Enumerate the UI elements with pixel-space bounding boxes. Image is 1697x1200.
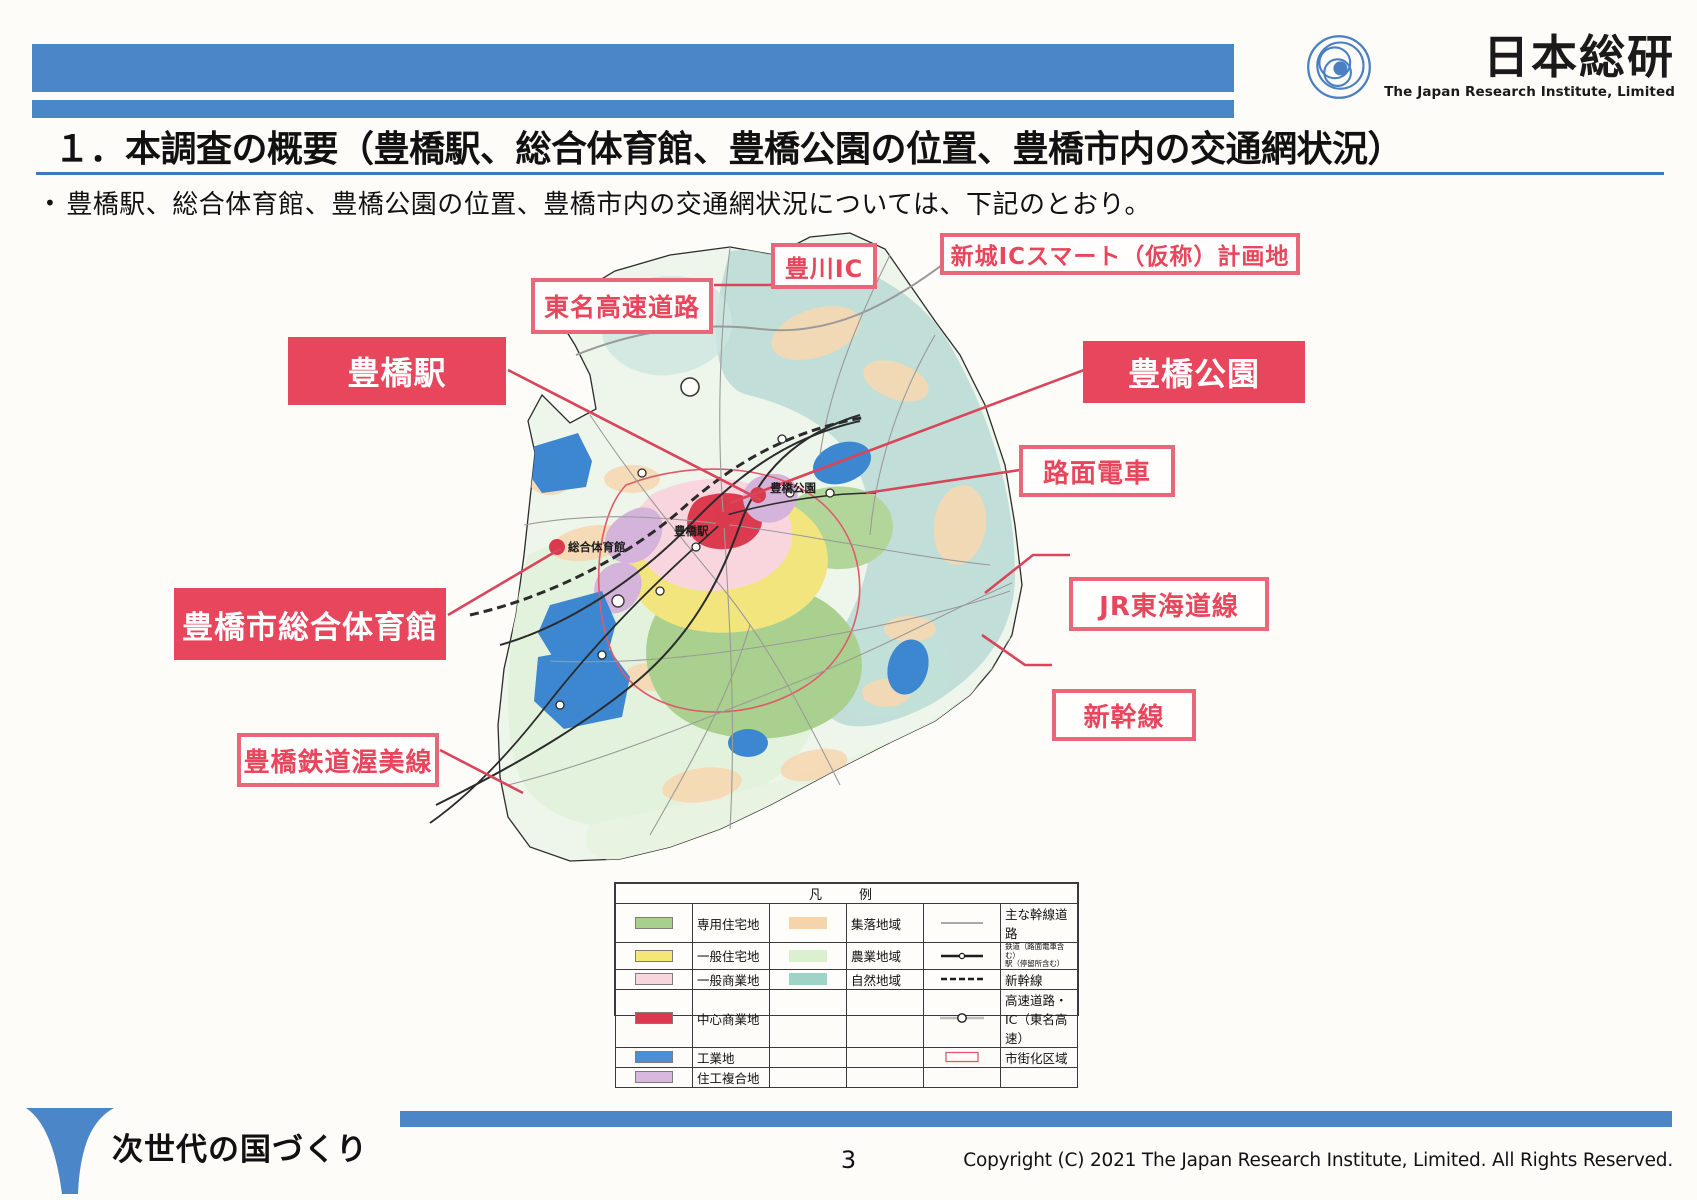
legend-label-cell: 市街化区域: [1001, 1047, 1078, 1067]
legend-symbol-ic: [937, 1012, 987, 1024]
legend-row: 工業地市街化区域: [616, 1047, 1078, 1067]
callout-atsumi-line[interactable]: 豊橋鉄道渥美線: [237, 733, 439, 787]
map-label-park: 豊橋公園: [770, 481, 816, 495]
legend-label-line: 駅（停留所含む）: [1005, 960, 1073, 969]
legend-symbol-shinkansen: [937, 973, 987, 985]
legend-swatch-cell: [770, 904, 847, 943]
legend-color-swatch: [635, 973, 673, 985]
callout-toyokawa-label: 豊川IC: [785, 249, 864, 284]
legend-color-swatch: [635, 1012, 673, 1024]
legend-color-swatch: [635, 1071, 673, 1083]
callout-toyokawa-ic[interactable]: 豊川IC: [771, 243, 877, 289]
legend-label-cell: 自然地域: [847, 969, 924, 989]
intro-bullet: •豊橋駅、総合体育館、豊橋公園の位置、豊橋市内の交通網状況については、下記のとお…: [44, 184, 1151, 221]
map-figure: 豊橋公園 豊橋駅 総合体育館: [30, 225, 1667, 905]
map-marker-toyohashi-station: [715, 512, 731, 528]
legend-color-swatch: [789, 973, 827, 985]
legend-swatch-cell: [616, 989, 693, 1047]
callout-shinshiro-ic[interactable]: 新城ICスマート（仮称）計画地: [940, 233, 1300, 275]
callout-shinkansen[interactable]: 新幹線: [1052, 689, 1196, 741]
legend-symbol-wrap: [937, 1012, 987, 1024]
logo-text-jp: 日本総研: [1483, 34, 1675, 80]
legend-label-cell: 一般住宅地: [693, 943, 770, 970]
legend-label-cell: [847, 989, 924, 1047]
callout-atsumi-label: 豊橋鉄道渥美線: [243, 742, 432, 779]
callout-station-label: 豊橋駅: [347, 348, 446, 394]
legend-label-cell: 一般商業地: [693, 969, 770, 989]
legend-symbol-wrap: [937, 950, 987, 962]
toyohashi-city-map: 豊橋公園 豊橋駅 総合体育館: [30, 225, 1667, 905]
legend-symbol-cell: [924, 989, 1001, 1047]
legend-symbol-cell: [924, 969, 1001, 989]
legend-color-swatch: [789, 917, 827, 929]
legend-label-cell: 工業地: [693, 1047, 770, 1067]
legend-color-swatch: [635, 917, 673, 929]
map-toyokawa-ic-marker: [681, 378, 699, 396]
bullet-marker: •: [44, 191, 56, 215]
map-legend: 凡 例専用住宅地集落地域主な幹線道路一般住宅地農業地域鉄道（路面電車含む）駅（停…: [614, 882, 1079, 1016]
legend-label-cell: 専用住宅地: [693, 904, 770, 943]
page-title: １．本調査の概要（豊橋駅、総合体育館、豊橋公園の位置、豊橋市内の交通網状況）: [54, 120, 1614, 172]
legend-symbol-wrap: [937, 1051, 987, 1063]
legend-color-swatch: [635, 1051, 673, 1063]
legend-symbol-cell: [924, 1047, 1001, 1067]
legend-swatch-cell: [616, 904, 693, 943]
legend-swatch-cell: [616, 969, 693, 989]
callout-jr-label: JR東海道線: [1099, 586, 1239, 623]
legend-symbol-urban: [937, 1051, 987, 1063]
company-logo: 日本総研 The Japan Research Institute, Limit…: [1304, 32, 1675, 102]
legend-swatch-cell: [616, 1047, 693, 1067]
callout-tram[interactable]: 路面電車: [1019, 445, 1175, 497]
footer-bar: [400, 1111, 1672, 1127]
legend-label-cell: [1001, 1067, 1078, 1087]
legend-symbol-rail: [937, 950, 987, 962]
callout-park-label: 豊橋公園: [1128, 349, 1260, 395]
legend-swatch-cell: [770, 989, 847, 1047]
legend-color-swatch: [635, 950, 673, 962]
legend-table: 凡 例専用住宅地集落地域主な幹線道路一般住宅地農業地域鉄道（路面電車含む）駅（停…: [615, 883, 1078, 1088]
legend-title: 凡 例: [616, 884, 1078, 904]
legend-label-cell: 鉄道（路面電車含む）駅（停留所含む）: [1001, 943, 1078, 970]
callout-toumei-label: 東名高速道路: [544, 288, 700, 324]
legend-label-line: 鉄道（路面電車含む）: [1005, 943, 1073, 960]
legend-row: 一般商業地自然地域新幹線: [616, 969, 1078, 989]
callout-jr-tokaido[interactable]: JR東海道線: [1069, 577, 1269, 631]
map-label-station: 豊橋駅: [674, 524, 709, 538]
legend-row: 専用住宅地集落地域主な幹線道路: [616, 904, 1078, 943]
callout-gym-label: 豊橋市総合体育館: [182, 602, 438, 647]
legend-body: 凡 例専用住宅地集落地域主な幹線道路一般住宅地農業地域鉄道（路面電車含む）駅（停…: [616, 884, 1078, 1088]
callout-shinshiro-label: 新城ICスマート（仮称）計画地: [951, 237, 1290, 271]
legend-label-cell: 住工複合地: [693, 1067, 770, 1087]
logo-text-en: The Japan Research Institute, Limited: [1384, 84, 1675, 100]
callout-shinkansen-label: 新幹線: [1083, 697, 1164, 734]
callout-toyohashi-park[interactable]: 豊橋公園: [1083, 341, 1305, 403]
legend-symbol-wrap: [937, 973, 987, 985]
legend-row: 住工複合地: [616, 1067, 1078, 1087]
legend-swatch-cell: [770, 1067, 847, 1087]
slide: 日本総研 The Japan Research Institute, Limit…: [0, 0, 1697, 1200]
map-ic-marker-2: [612, 595, 624, 607]
legend-swatch-cell: [616, 1067, 693, 1087]
header-bar-secondary: [32, 100, 1234, 118]
callout-toyohashi-station[interactable]: 豊橋駅: [288, 337, 506, 405]
legend-swatch-cell: [770, 1047, 847, 1067]
copyright-text: Copyright (C) 2021 The Japan Research In…: [963, 1150, 1673, 1171]
legend-label-cell: 農業地域: [847, 943, 924, 970]
legend-swatch-cell: [770, 969, 847, 989]
legend-symbol-cell: [924, 943, 1001, 970]
legend-label-cell: 新幹線: [1001, 969, 1078, 989]
legend-label-cell: 高速道路・IC（東名高速）: [1001, 989, 1078, 1047]
legend-symbol-cell: [924, 904, 1001, 943]
legend-swatch-cell: [770, 943, 847, 970]
callout-gym[interactable]: 豊橋市総合体育館: [174, 588, 446, 660]
legend-symbol-wrap: [937, 917, 987, 929]
legend-symbol-cell: [924, 1067, 1001, 1087]
legend-header-row: 凡 例: [616, 884, 1078, 904]
title-divider: [36, 172, 1664, 175]
header-bar-primary: [32, 44, 1234, 92]
legend-swatch-cell: [616, 943, 693, 970]
legend-label-cell: [847, 1047, 924, 1067]
legend-label-cell: 主な幹線道路: [1001, 904, 1078, 943]
callout-tram-label: 路面電車: [1043, 453, 1151, 490]
legend-label-cell: 集落地域: [847, 904, 924, 943]
legend-row: 中心商業地高速道路・IC（東名高速）: [616, 989, 1078, 1047]
map-label-gym: 総合体育館: [568, 540, 626, 554]
intro-bullet-text: 豊橋駅、総合体育館、豊橋公園の位置、豊橋市内の交通網状況については、下記のとおり…: [66, 190, 1151, 220]
callout-toumei-expressway[interactable]: 東名高速道路: [531, 278, 713, 334]
legend-row: 一般住宅地農業地域鉄道（路面電車含む）駅（停留所含む）: [616, 943, 1078, 970]
legend-symbol-road: [937, 917, 987, 929]
legend-label-cell: 中心商業地: [693, 989, 770, 1047]
legend-label-cell: [847, 1067, 924, 1087]
legend-color-swatch: [789, 950, 827, 962]
jri-spiral-icon: [1304, 32, 1374, 102]
